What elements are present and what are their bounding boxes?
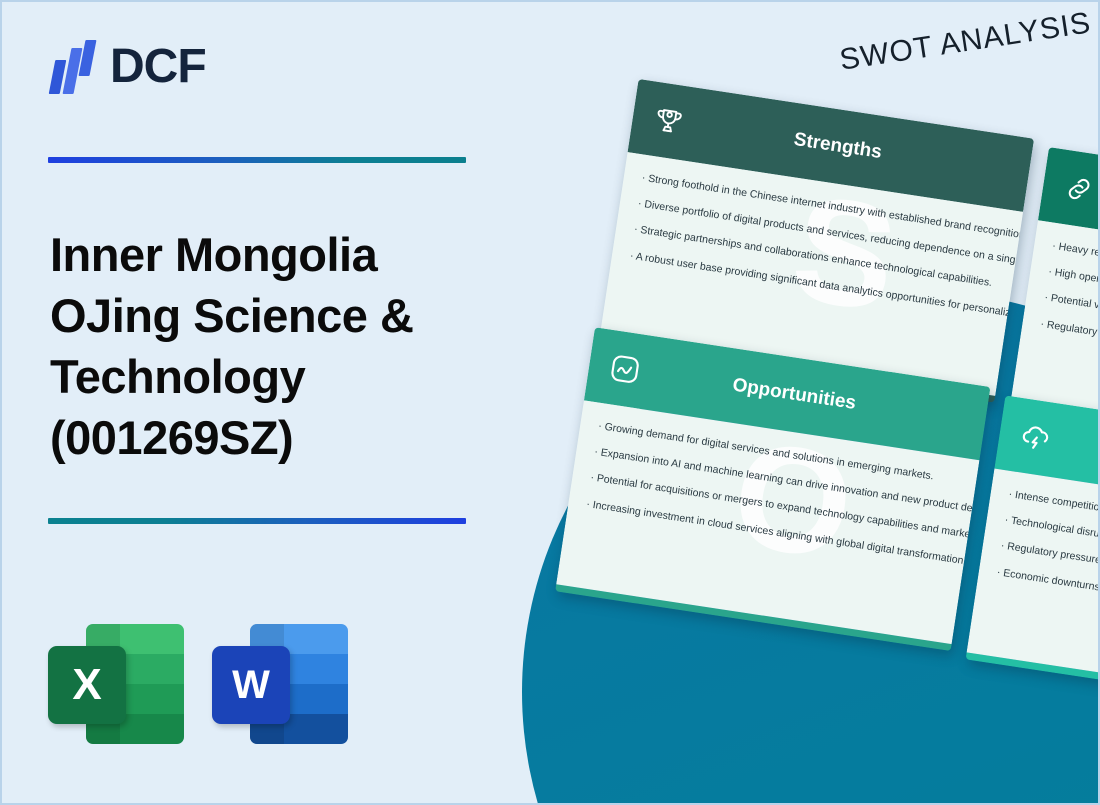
list-item: Regulatory challenges within the Chinese… [1039,317,1100,386]
dcf-bars-logo [50,38,96,96]
trend-line-icon [602,346,648,392]
word-tile-letter: W [212,646,290,724]
divider-bottom [48,518,466,524]
divider-top [48,157,466,163]
weaknesses-list: Heavy reliance on the domestic market li… [1039,239,1100,386]
swot-card-grid: Strengths S Strong foothold in the Chine… [555,77,1100,655]
storm-cloud-icon [1013,415,1059,461]
brand-wordmark: DCF [110,43,206,91]
list-item: Economic downturns affecting consumer sp… [996,565,1100,634]
excel-tile-letter: X [48,646,126,724]
excel-icon[interactable]: X [48,622,184,746]
brand-lockup: DCF [50,38,206,96]
cover-page: DCF Inner Mongolia OJing Science & Techn… [0,0,1100,805]
swot-heading: SWOT ANALYSIS [837,6,1093,78]
chain-link-icon [1056,166,1100,212]
threats-list: Intense competition from established tec… [996,487,1100,634]
word-icon[interactable]: W [212,622,348,746]
file-format-icons: X W [48,622,348,746]
left-panel: DCF Inner Mongolia OJing Science & Techn… [2,2,542,803]
swot-stage: SWOT ANALYSIS Strengths [482,2,1100,805]
trophy-icon [646,98,692,144]
page-title: Inner Mongolia OJing Science & Technolog… [50,224,510,468]
